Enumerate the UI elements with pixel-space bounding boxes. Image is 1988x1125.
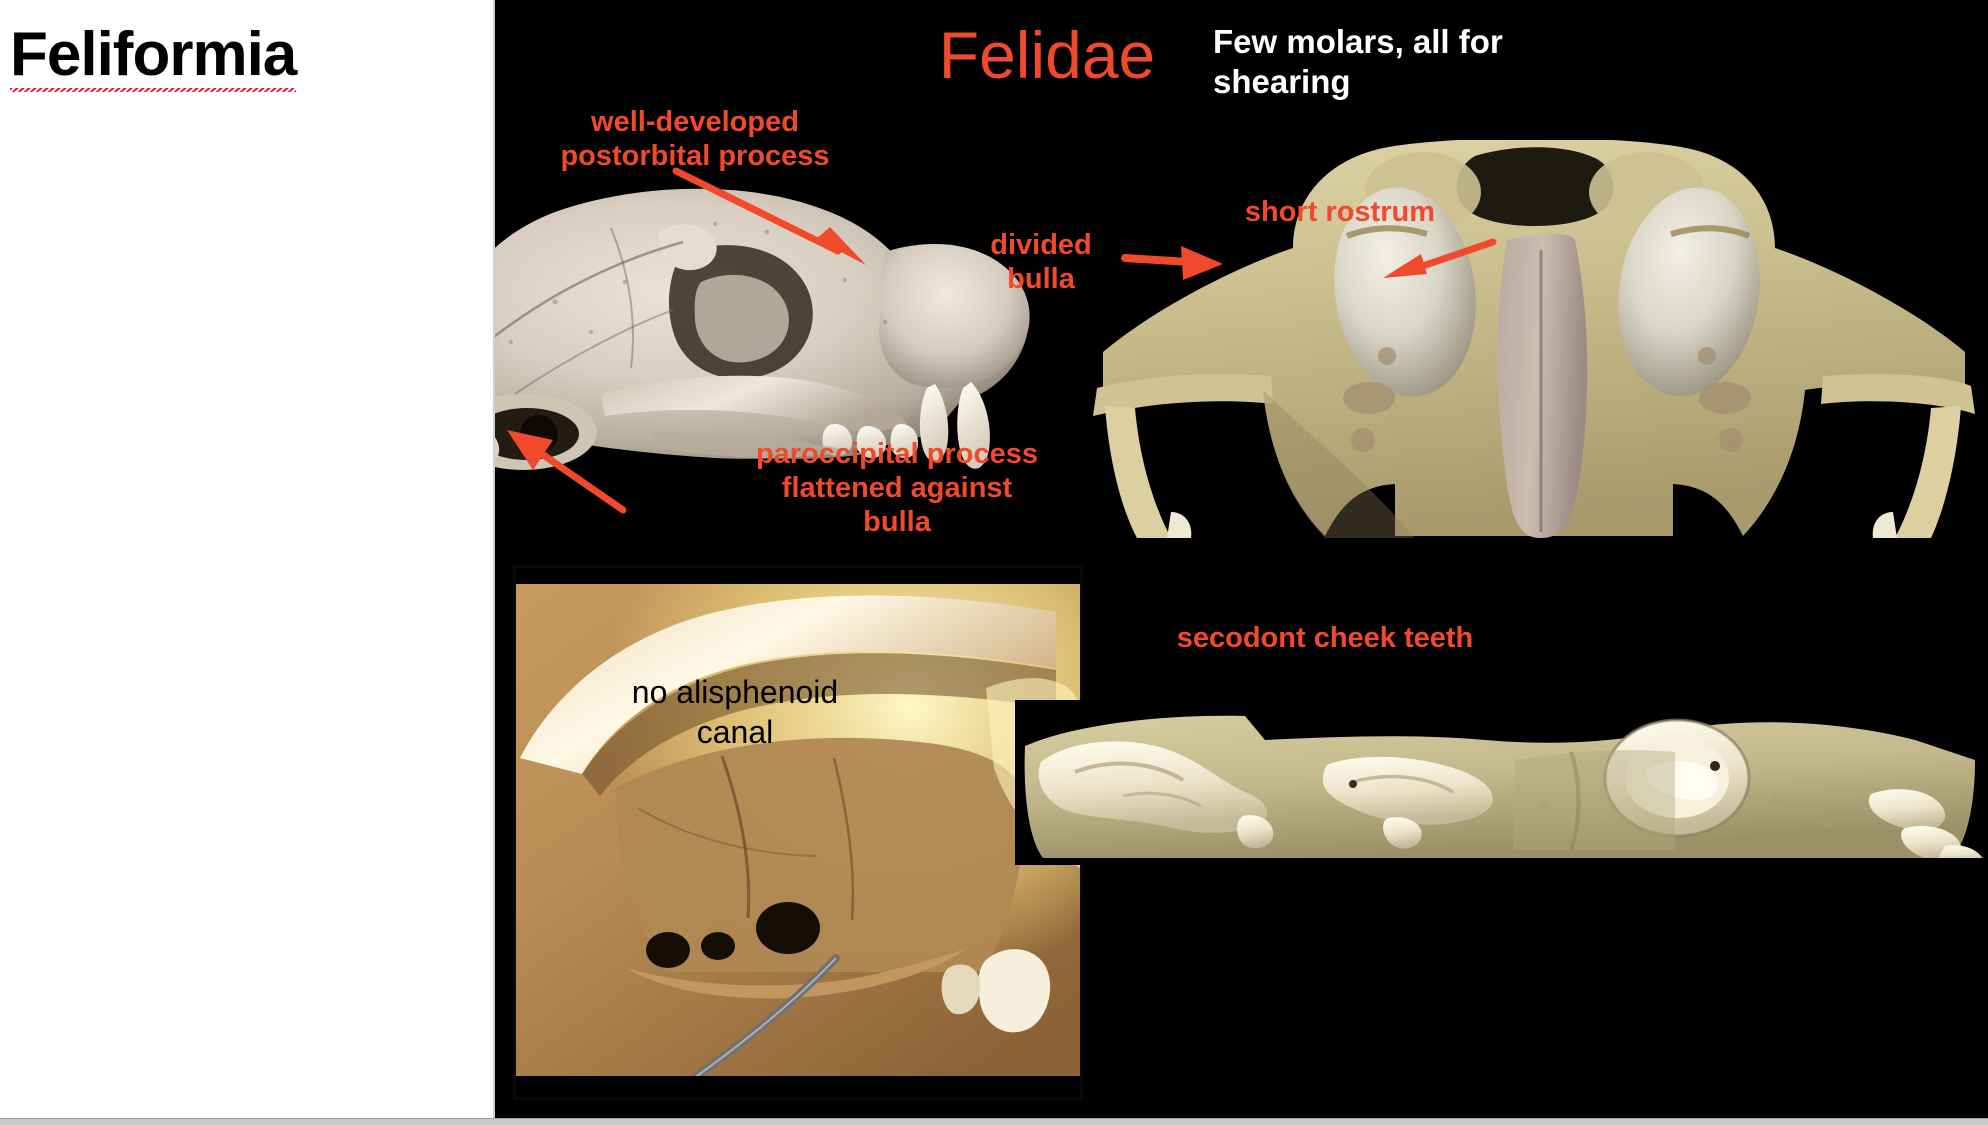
short-rostrum-arrow bbox=[1369, 232, 1499, 288]
paroccipital-arrow bbox=[495, 428, 635, 518]
label-postorbital-process: well-developed postorbital process bbox=[495, 105, 975, 173]
label-no-alisphenoid-canal: no alisphenoid canal bbox=[555, 672, 915, 752]
window-bottom-border bbox=[0, 1118, 1988, 1125]
molars-note-text: Few molars, all for shearing bbox=[1213, 22, 1553, 103]
divided-bulla-arrow bbox=[1121, 238, 1231, 286]
slide-canvas: Felidae Few molars, all for shearing wel… bbox=[495, 0, 1988, 1118]
label-secodont-cheek-teeth: secodont cheek teeth bbox=[1105, 621, 1545, 655]
cheek-teeth-photo bbox=[1015, 700, 1988, 865]
postorbital-arrow bbox=[670, 165, 880, 275]
label-paroccipital-process: paroccipital process flattened against b… bbox=[557, 437, 1237, 540]
outline-pane: Feliformia bbox=[0, 0, 495, 1118]
page-title: Feliformia bbox=[10, 22, 296, 87]
basicranium-closeup-photo bbox=[513, 565, 1083, 1100]
label-divided-bulla: divided bulla bbox=[965, 228, 1117, 296]
page-title-text: Feliformia bbox=[10, 20, 296, 92]
slide-heading-felidae: Felidae bbox=[882, 22, 1212, 88]
label-short-rostrum: short rostrum bbox=[795, 195, 1435, 229]
